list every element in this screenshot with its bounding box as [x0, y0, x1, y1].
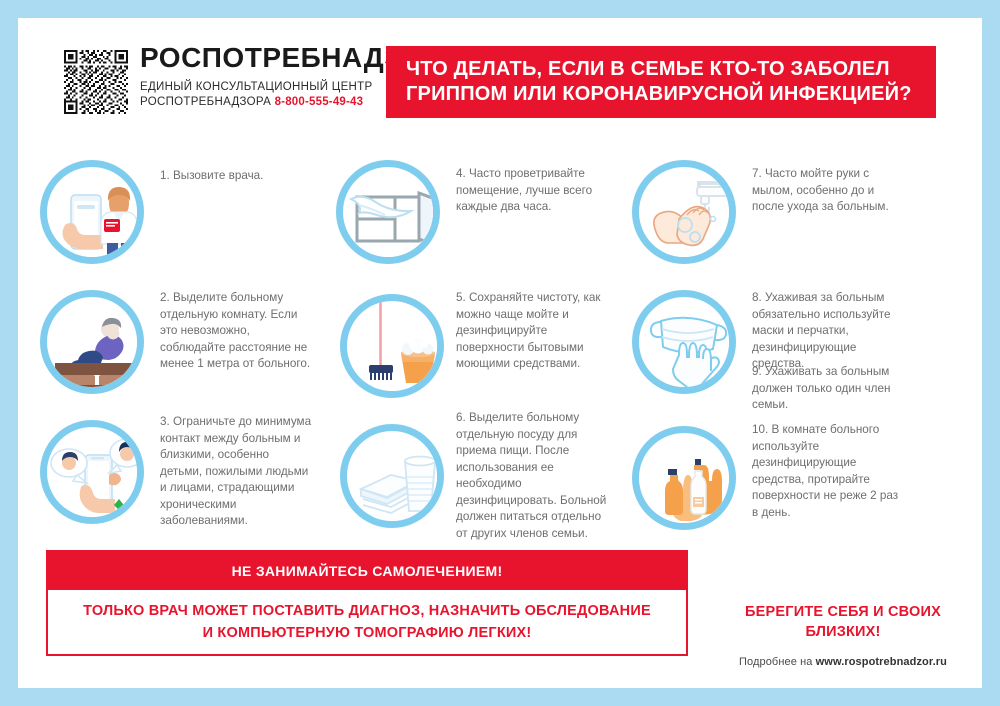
poster-header: РОСПОТРЕБНАДЗОР ЕДИНЫЙ КОНСУЛЬТАЦИОННЫЙ …	[18, 42, 982, 132]
website-note-prefix: Подробнее на	[739, 656, 816, 668]
tip-text-3: 3. Ограничьте до минимума контакт между …	[160, 414, 312, 530]
tips-column-2: 4. Часто проветривайте помещение, лучше …	[336, 142, 636, 538]
warning-headline-bar: НЕ ЗАНИМАЙТЕСЬ САМОЛЕЧЕНИЕМ!	[48, 552, 686, 590]
open-window-airing-icon	[336, 160, 440, 264]
poster-footer: НЕ ЗАНИМАЙТЕСЬ САМОЛЕЧЕНИЕМ! ТОЛЬКО ВРАЧ…	[18, 550, 982, 688]
tip-text-5: 5. Сохраняйте чистоту, как можно чаще мо…	[456, 290, 608, 373]
tip-text-4: 4. Часто проветривайте помещение, лучше …	[456, 166, 608, 216]
gloves-and-spray-bottles-icon	[632, 426, 736, 530]
care-line-1: БЕРЕГИТЕ СЕБЯ И СВОИХ	[718, 602, 968, 622]
tip-text-9: 9. Ухаживать за больным должен только од…	[752, 364, 904, 414]
tips-content: 1. Вызовите врача.	[18, 142, 982, 538]
washing-hands-faucet-icon	[632, 160, 736, 264]
qr-code-icon	[64, 50, 128, 114]
tip-text-8: 8. Ухаживая за больным обязательно испол…	[752, 290, 904, 373]
warning-body-line1: ТОЛЬКО ВРАЧ МОЖЕТ ПОСТАВИТЬ ДИАГНОЗ, НАЗ…	[83, 600, 651, 622]
mask-and-gloves-icon	[632, 290, 736, 394]
care-line-2: БЛИЗКИХ!	[718, 622, 968, 642]
tips-column-1: 1. Вызовите врача.	[40, 142, 340, 538]
poster: РОСПОТРЕБНАДЗОР ЕДИНЫЙ КОНСУЛЬТАЦИОННЫЙ …	[18, 18, 982, 688]
tip-text-7: 7. Часто мойте руки с мылом, особенно до…	[752, 166, 904, 216]
tip-text-2: 2. Выделите больному отдельную комнату. …	[160, 290, 312, 373]
warning-headline: НЕ ЗАНИМАЙТЕСЬ САМОЛЕЧЕНИЕМ!	[232, 563, 503, 579]
doctor-phone-call-icon	[40, 160, 144, 264]
warning-body: ТОЛЬКО ВРАЧ МОЖЕТ ПОСТАВИТЬ ДИАГНОЗ, НАЗ…	[48, 590, 686, 654]
self-treatment-warning-box: НЕ ЗАНИМАЙТЕСЬ САМОЛЕЧЕНИЕМ! ТОЛЬКО ВРАЧ…	[46, 550, 688, 656]
tip-text-6: 6. Выделите больному отдельную посуду дл…	[456, 410, 608, 542]
mop-and-bucket-icon	[340, 294, 444, 398]
care-block: БЕРЕГИТЕ СЕБЯ И СВОИХ БЛИЗКИХ! Подробнее…	[718, 602, 968, 668]
hotline-phone[interactable]: 8-800-555-49-43	[275, 96, 364, 108]
warning-body-line2: И КОМПЬЮТЕРНУЮ ТОМОГРАФИЮ ЛЕГКИХ!	[203, 622, 532, 644]
person-resting-on-sofa-icon	[40, 290, 144, 394]
title-line-1: ЧТО ДЕЛАТЬ, ЕСЛИ В СЕМЬЕ КТО-ТО ЗАБОЛЕЛ	[406, 57, 936, 82]
disposable-dishes-cups-icon	[340, 424, 444, 528]
title-line-2: ГРИППОМ ИЛИ КОРОНАВИРУСНОЙ ИНФЕКЦИЕЙ?	[406, 82, 936, 107]
two-people-phone-chat-check-icon	[40, 420, 144, 524]
tips-column-3: 7. Часто мойте руки с мылом, особенно до…	[632, 142, 932, 538]
title-banner: ЧТО ДЕЛАТЬ, ЕСЛИ В СЕМЬЕ КТО-ТО ЗАБОЛЕЛ …	[386, 46, 936, 118]
website-note: Подробнее на www.rospotrebnadzor.ru	[718, 656, 968, 668]
website-url[interactable]: www.rospotrebnadzor.ru	[816, 656, 947, 668]
tip-text-10: 10. В комнате больного используйте дезин…	[752, 422, 904, 521]
tip-text-1: 1. Вызовите врача.	[160, 168, 312, 185]
